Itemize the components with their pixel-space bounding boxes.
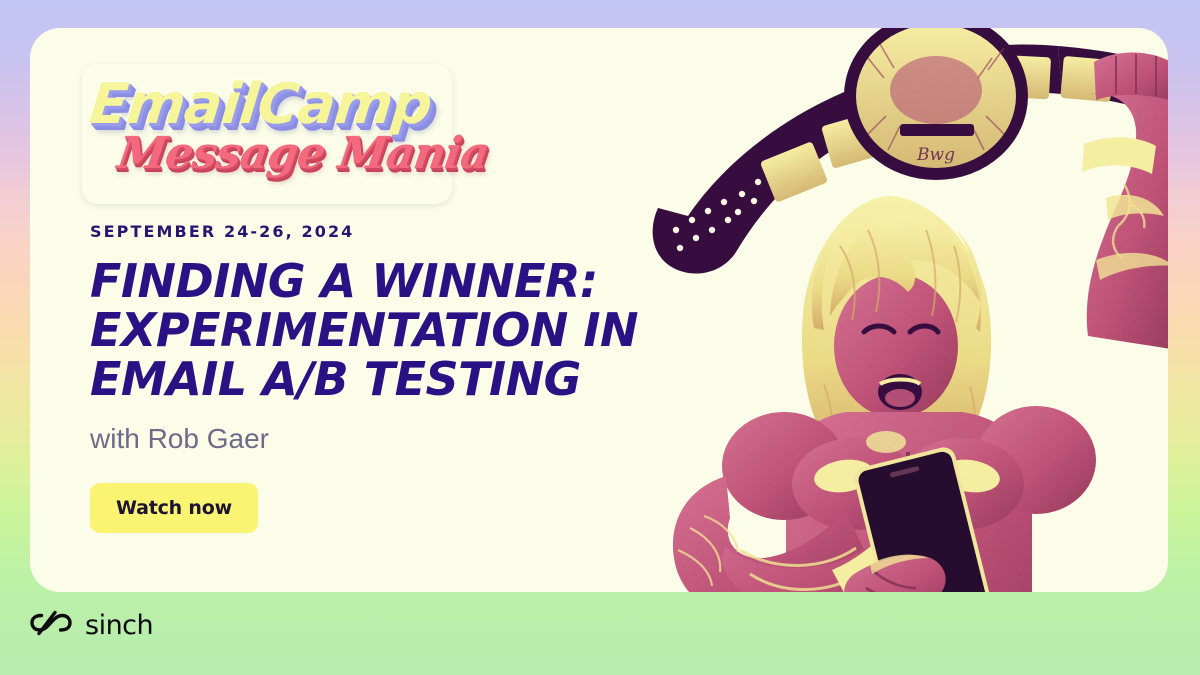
sinch-logo: sinch	[30, 610, 153, 641]
sinch-mark-icon	[30, 610, 72, 641]
page-title: FINDING A WINNER: EXPERIMENTATION IN EMA…	[90, 257, 660, 405]
promo-banner: EmailCamp Message Mania SEPTEMBER 24-26,…	[0, 0, 1200, 675]
event-dates: SEPTEMBER 24-26, 2024	[90, 222, 690, 241]
headline-line-1: FINDING A WINNER:	[90, 257, 660, 306]
logo-secondary-text: Message Mania	[114, 128, 491, 179]
speaker-name: with Rob Gaer	[90, 423, 690, 455]
sinch-wordmark: sinch	[85, 610, 153, 641]
watch-now-button[interactable]: Watch now	[90, 483, 258, 533]
svg-text:Bwg: Bwg	[916, 145, 955, 165]
emailcamp-logo: EmailCamp Message Mania	[90, 64, 460, 204]
headline-line-2: EXPERIMENTATION IN	[90, 306, 660, 355]
headline-line-3: EMAIL A/B TESTING	[90, 355, 660, 404]
wrestler-illustration: Bwg	[618, 28, 1168, 592]
promo-card: EmailCamp Message Mania SEPTEMBER 24-26,…	[30, 28, 1168, 592]
card-content: EmailCamp Message Mania SEPTEMBER 24-26,…	[90, 64, 690, 533]
